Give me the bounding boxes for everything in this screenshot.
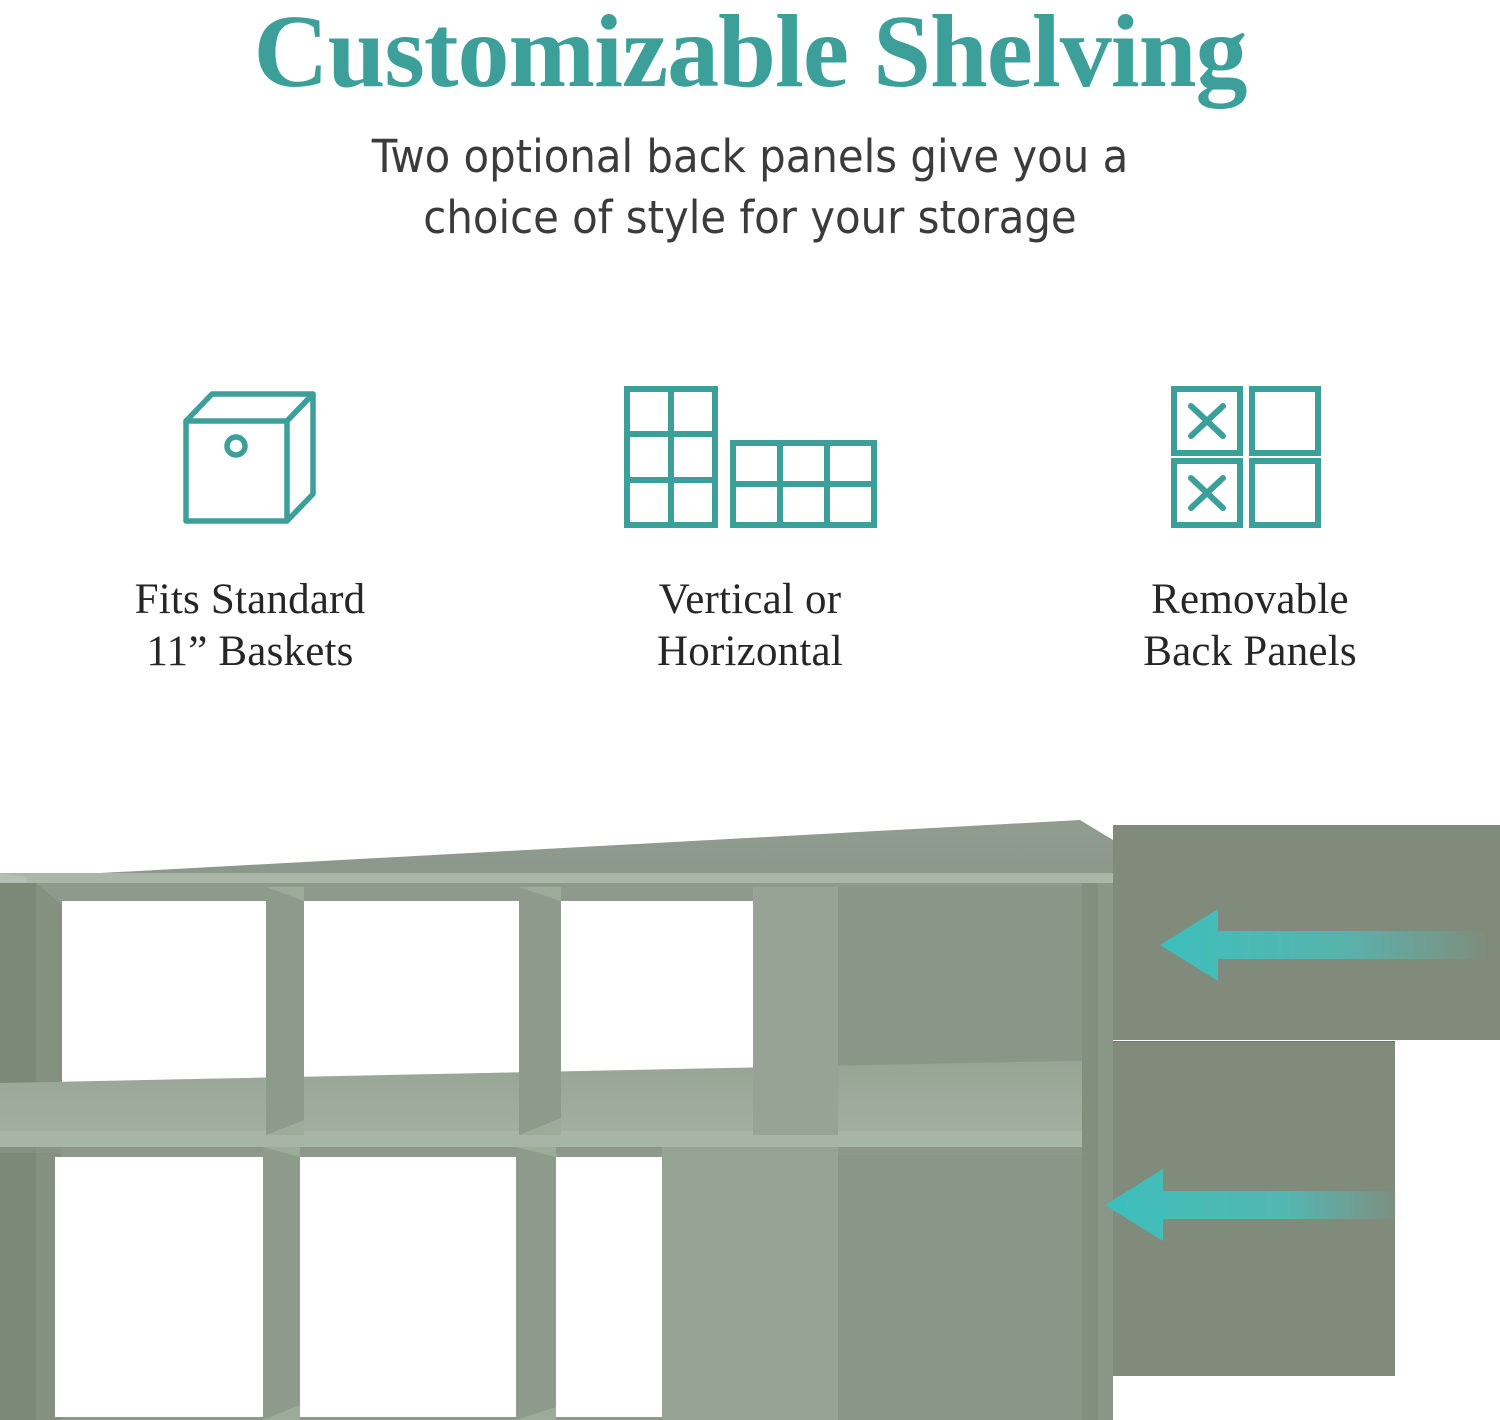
lower-slide-arrow	[1105, 1160, 1405, 1250]
feature-label-orientation-line-1: Vertical or	[657, 574, 843, 626]
feature-label-orientation-line-2: Horizontal	[657, 626, 843, 678]
feature-label-panels: Removable Back Panels	[1143, 574, 1357, 679]
storage-basket-cube-icon	[165, 378, 335, 538]
feature-label-orientation: Vertical or Horizontal	[657, 574, 843, 679]
shelf-carcass	[0, 805, 1135, 1420]
vertical-horizontal-grid-icon	[623, 378, 878, 538]
upper-slide-arrow	[1160, 900, 1490, 990]
feature-item-baskets: Fits Standard 11” Baskets	[0, 378, 500, 688]
feature-label-baskets-line-2: 11” Baskets	[135, 626, 366, 678]
header-section: Customizable Shelving Two optional back …	[0, 0, 1500, 300]
subtitle-line-1: Two optional back panels give you a	[53, 126, 1448, 187]
feature-item-panels: Removable Back Panels	[1000, 378, 1500, 688]
subtitle-line-2: choice of style for your storage	[53, 187, 1448, 248]
feature-list: Fits Standard 11” Baskets Vertical or Ho…	[0, 378, 1500, 688]
page-subtitle: Two optional back panels give you a choi…	[53, 126, 1448, 248]
removable-panel-squares-icon	[1170, 378, 1330, 538]
feature-item-orientation: Vertical or Horizontal	[500, 378, 1000, 688]
feature-label-baskets: Fits Standard 11” Baskets	[135, 574, 366, 679]
feature-label-panels-line-2: Back Panels	[1143, 626, 1357, 678]
page-title: Customizable Shelving	[0, 0, 1500, 110]
feature-label-baskets-line-1: Fits Standard	[135, 574, 366, 626]
feature-label-panels-line-1: Removable	[1143, 574, 1357, 626]
cube-storage-shelf-photo	[0, 805, 1500, 1420]
